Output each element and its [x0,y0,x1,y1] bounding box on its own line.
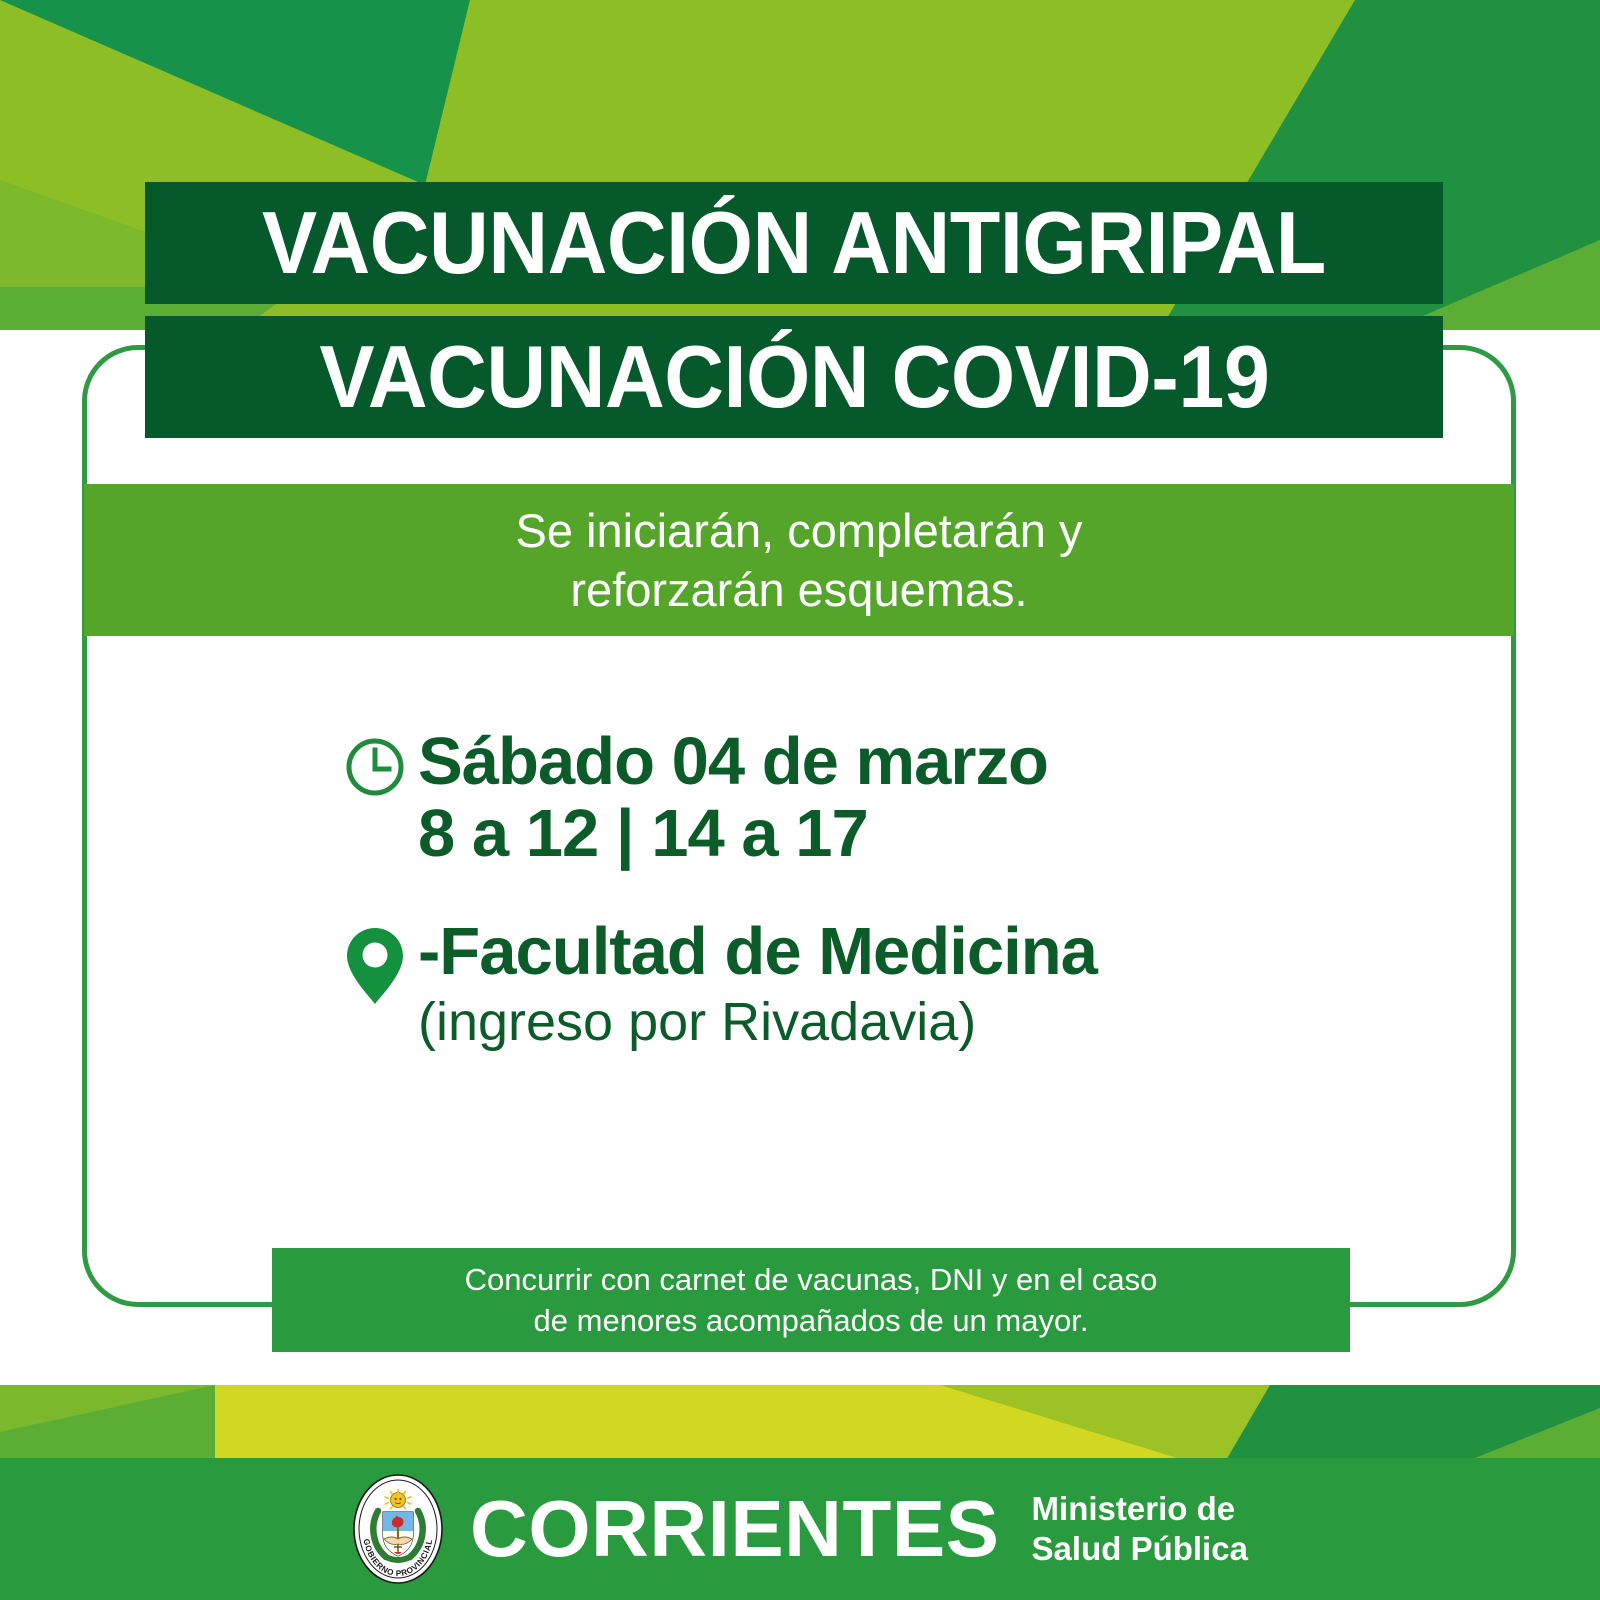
ministry-name: Ministerio de Salud Pública [1032,1489,1248,1570]
subtitle-band: Se iniciarán, completarán y reforzarán e… [84,484,1514,636]
schedule-date: Sábado 04 de marzo [418,726,1048,798]
schedule-row: Sábado 04 de marzo 8 a 12 | 14 a 17 [332,726,1048,871]
ministry-line-2: Salud Pública [1032,1529,1248,1569]
location-venue: -Facultad de Medicina [418,916,1097,988]
schedule-hours: 8 a 12 | 14 a 17 [418,798,1048,870]
ministry-line-1: Ministerio de [1032,1489,1248,1529]
title-antigripal-text: VACUNACIÓN ANTIGRIPAL [262,192,1326,294]
poster-canvas: VACUNACIÓN ANTIGRIPAL VACUNACIÓN COVID-1… [0,0,1600,1600]
title-bar-antigripal: VACUNACIÓN ANTIGRIPAL [145,182,1443,304]
requirements-note-band: Concurrir con carnet de vacunas, DNI y e… [272,1248,1350,1352]
note-line-2: de menores acompañados de un mayor. [534,1300,1089,1341]
corrientes-coat-of-arms-icon: GOBIERNO PROVINCIAL [352,1473,444,1585]
clock-icon [332,726,418,798]
title-bar-covid: VACUNACIÓN COVID-19 [145,316,1443,438]
location-row: -Facultad de Medicina (ingreso por Rivad… [332,916,1097,1053]
subtitle-line-1: Se iniciarán, completarán y [516,501,1083,560]
map-pin-icon [332,916,418,1006]
location-detail: (ingreso por Rivadavia) [418,992,1097,1052]
title-covid-text: VACUNACIÓN COVID-19 [319,326,1269,428]
note-line-1: Concurrir con carnet de vacunas, DNI y e… [465,1259,1158,1300]
footer-branding: GOBIERNO PROVINCIAL CORRIENTES Ministeri… [0,1458,1600,1600]
subtitle-line-2: reforzarán esquemas. [570,560,1027,619]
province-name: CORRIENTES [470,1489,1000,1569]
